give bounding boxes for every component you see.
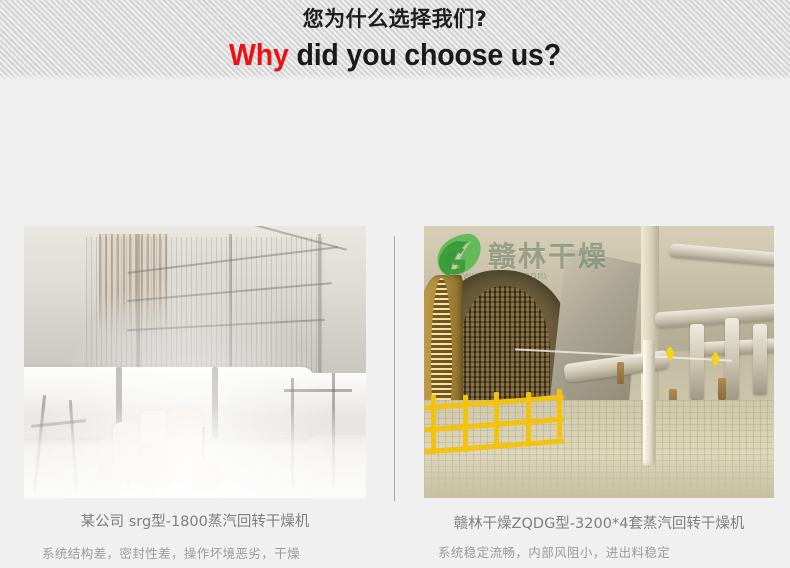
ganlin-caption-title: 赣林干燥ZQDG型-3200*4套蒸汽回转干燥机 [424,513,774,535]
competitor-caption-block: 某公司 srg型-1800蒸汽回转干燥机 系统结构差，密封性差，操作坏境恶劣，干… [24,511,366,568]
pipe-flange [718,378,726,400]
ganlin-caption-block: 赣林干燥ZQDG型-3200*4套蒸汽回转干燥机 系统稳定流畅，内部风阻小，进出… [424,513,774,568]
competitor-caption-body: 系统结构差，密封性差，操作坏境恶劣，干燥 能耗高。设备强度低，检修难度大。 [24,539,366,568]
page-header: 您为什么选择我们? Why did you choose us? [0,0,790,81]
ganlin-photo: 赣林干燥 www.ganlin.com [424,226,774,498]
vertical-pipe [690,324,704,400]
dust-haze-overlay [24,226,366,498]
header-text-group: 您为什么选择我们? Why did you choose us? [0,0,790,74]
competitor-photo-scene [24,226,366,498]
watermark-url: www.ganlin.com [454,270,547,282]
railing-post [431,395,436,455]
vertical-divider [394,236,395,501]
foreground-column [643,340,655,465]
ganlin-caption-line: 系统稳定流畅，内部风阻小，进出料稳定 [438,541,774,565]
ganlin-caption-body: 系统稳定流畅，内部风阻小，进出料稳定 持续，自动化程度高，设备检修方便， [424,541,774,568]
competitor-caption-title: 某公司 srg型-1800蒸汽回转干燥机 [24,511,366,533]
railing-post [526,392,531,444]
page-title-english: Why did you choose us? [32,36,759,74]
floor-foreground [424,460,774,498]
competitor-photo [24,226,366,498]
railing-post [494,392,499,446]
ganlin-photo-scene: 赣林干燥 www.ganlin.com [424,226,774,498]
title-highlight-word: Why [229,37,289,72]
railing-post [463,395,468,452]
vertical-pipe [753,324,767,395]
competitor-caption-line: 系统结构差，密封性差，操作坏境恶劣，干燥 [42,539,366,568]
page-title-chinese: 您为什么选择我们? [0,0,790,36]
pipe-flange [617,362,625,384]
title-rest-text: did you choose us? [289,37,561,72]
railing-post [557,389,562,438]
comparison-section: 赣林干燥 www.ganlin.com 某公司 srg型-1800蒸汽回转干燥机… [0,81,790,568]
